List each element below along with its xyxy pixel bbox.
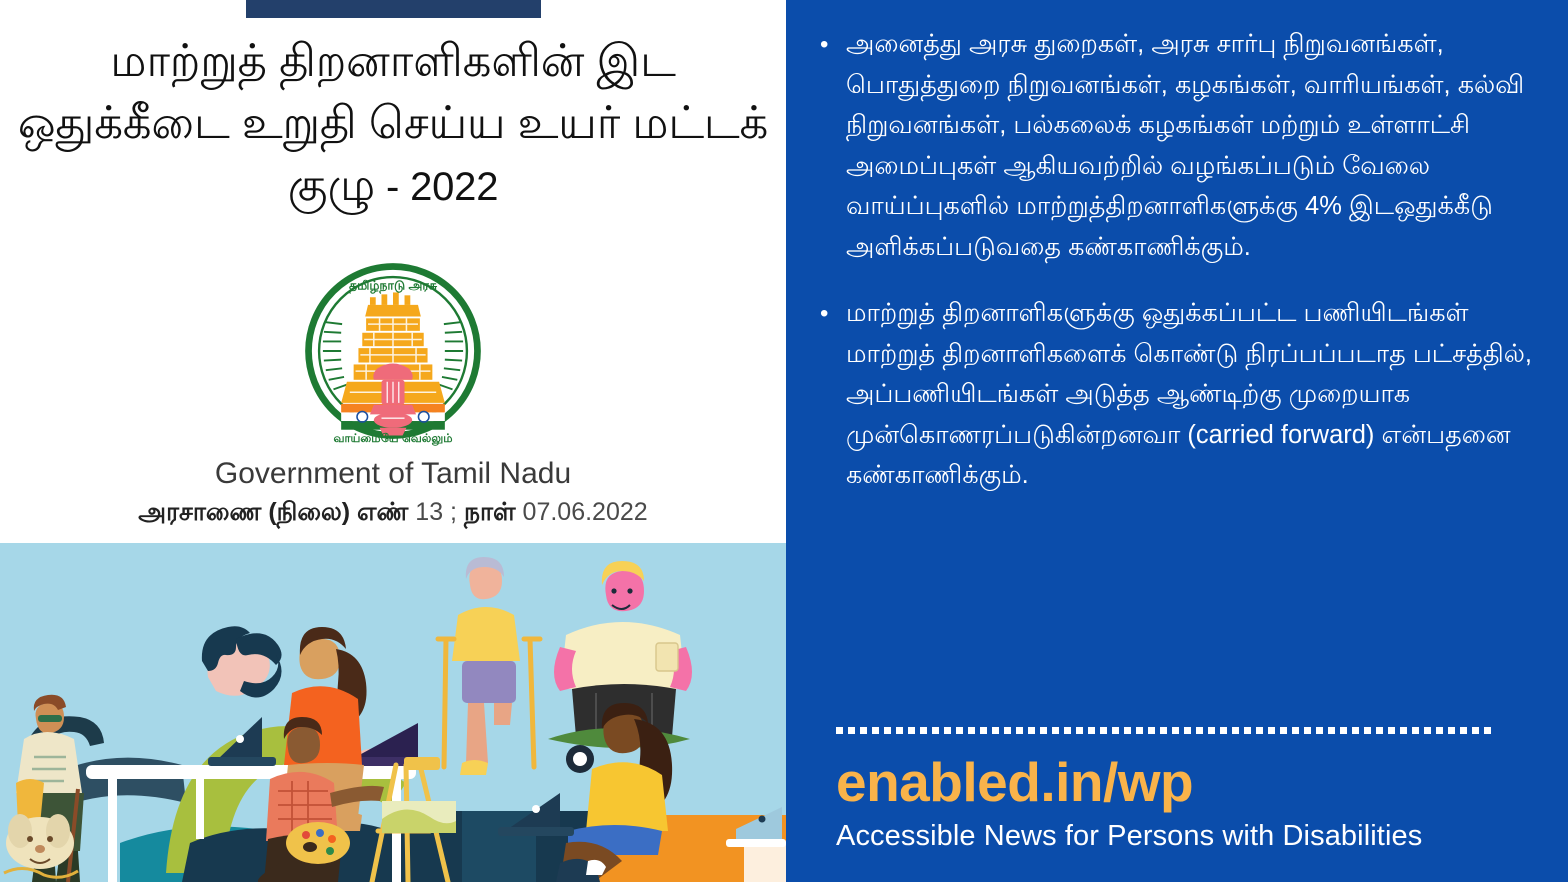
government-order-line: அரசாணை (நிலை) எண் 13 ; நாள் 07.06.2022 xyxy=(0,496,786,528)
dotted-divider xyxy=(836,727,1492,734)
right-panel: • அனைத்து அரசு துறைகள், அரசு சார்பு நிறு… xyxy=(786,0,1568,882)
go-label-number: அரசாணை (நிலை) எண் xyxy=(138,498,408,526)
illustration xyxy=(0,543,786,882)
svg-text:தமிழ்நாடு அரசு: தமிழ்நாடு அரசு xyxy=(349,279,437,294)
bullet-marker-icon: • xyxy=(820,24,846,267)
page-title: மாற்றுத் திறனாளிகளின் இட ஒதுக்கீடை உறுதி… xyxy=(12,30,774,218)
go-date: 07.06.2022 xyxy=(516,498,648,526)
brand-url[interactable]: enabled.in/wp xyxy=(836,752,1548,812)
go-label-date: நாள் xyxy=(464,498,516,526)
left-panel: மாற்றுத் திறனாளிகளின் இட ஒதுக்கீடை உறுதி… xyxy=(0,0,786,882)
bullet-marker-icon: • xyxy=(820,293,846,496)
svg-text:வாய்மையே வெல்லும்: வாய்மையே வெல்லும் xyxy=(334,432,454,446)
government-label: Government of Tamil Nadu xyxy=(0,456,786,492)
bullet-text-2: மாற்றுத் திறனாளிகளுக்கு ஒதுக்கப்பட்ட பணி… xyxy=(846,293,1546,496)
bullet-list: • அனைத்து அரசு துறைகள், அரசு சார்பு நிறு… xyxy=(820,24,1546,522)
tamil-nadu-government-emblem-icon: தமிழ்நாடு அரசு வாய்மையே வெல்லும் xyxy=(297,255,489,447)
brand-tagline: Accessible News for Persons with Disabil… xyxy=(836,818,1548,854)
brand-footer: enabled.in/wp Accessible News for Person… xyxy=(836,727,1548,854)
persons-with-disabilities-illustration-icon xyxy=(0,543,786,882)
poster-slide: மாற்றுத் திறனாளிகளின் இட ஒதுக்கீடை உறுதி… xyxy=(0,0,1568,882)
emblem-container: தமிழ்நாடு அரசு வாய்மையே வெல்லும் xyxy=(0,255,786,447)
bullet-text-1: அனைத்து அரசு துறைகள், அரசு சார்பு நிறுவன… xyxy=(846,24,1546,267)
list-item: • மாற்றுத் திறனாளிகளுக்கு ஒதுக்கப்பட்ட ப… xyxy=(820,293,1546,496)
go-number: 13 ; xyxy=(408,498,464,526)
page-title-year: - 2022 xyxy=(375,165,498,209)
list-item: • அனைத்து அரசு துறைகள், அரசு சார்பு நிறு… xyxy=(820,24,1546,267)
top-accent-bar xyxy=(246,0,541,18)
